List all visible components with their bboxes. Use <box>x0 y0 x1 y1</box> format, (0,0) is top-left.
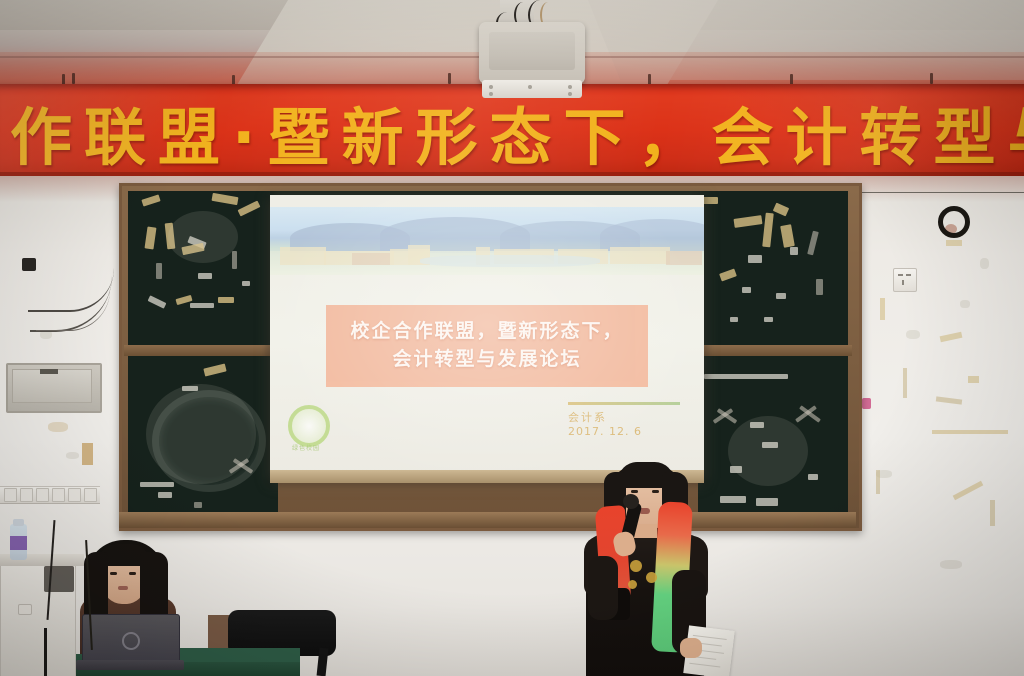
tape-residue <box>876 470 880 494</box>
socket-slot <box>902 280 904 285</box>
cabinet-handle[interactable] <box>18 604 32 615</box>
slide-title-box: 校企合作联盟，暨新形态下， 会计转型与发展论坛 <box>326 305 648 387</box>
wall-stain <box>940 560 962 569</box>
speaker-eye-left <box>631 490 638 493</box>
chalk-mark <box>807 231 819 256</box>
chalk-mark <box>734 215 763 228</box>
jacket-embroidery <box>630 560 642 572</box>
chalk-mark <box>158 492 172 498</box>
projection-screen: 校企合作联盟，暨新形态下， 会计转型与发展论坛 绿色校园 会计系 2017. 1… <box>270 195 704 483</box>
banner-sheen <box>0 84 1024 180</box>
jacket-embroidery <box>646 572 657 583</box>
chalk-mark <box>203 363 226 376</box>
chalk-mark <box>762 213 774 248</box>
bottle-cap <box>13 519 24 526</box>
chalkboard-panel-bottom-right <box>698 356 848 516</box>
chalk-mark <box>720 496 746 503</box>
chalk-mark <box>773 203 789 217</box>
chalkboard-ledge <box>119 512 856 528</box>
projector-screw <box>568 85 572 89</box>
chalk-mark <box>140 482 174 487</box>
slide-date: 2017. 12. 6 <box>568 425 642 438</box>
bottle-label <box>10 536 27 550</box>
wall-stain <box>980 258 989 269</box>
operator-eye-right <box>129 572 136 575</box>
projector-screw <box>568 92 572 96</box>
chalk-mark <box>790 247 798 255</box>
tape-residue <box>990 500 995 526</box>
wall-socket-plate <box>893 268 917 292</box>
green-desk-extension <box>176 648 300 662</box>
jacket-embroidery <box>628 580 637 589</box>
wall-switch[interactable] <box>84 488 97 502</box>
chalk-mark <box>242 281 250 286</box>
projector-base-plate <box>482 80 582 98</box>
electrical-panel-face <box>12 369 92 403</box>
chalk-mark <box>704 374 788 379</box>
wall-switch[interactable] <box>36 488 49 502</box>
wall-switch[interactable] <box>52 488 65 502</box>
tape-residue <box>968 376 979 383</box>
wall-stain <box>66 452 79 459</box>
socket-slot <box>906 274 911 276</box>
chalkboard-divider-left <box>124 345 282 356</box>
chalk-mark <box>816 279 823 295</box>
tape-residue <box>946 240 962 246</box>
speaker-arm-left <box>588 556 618 620</box>
paper-text-line <box>689 663 720 668</box>
chalk-mark <box>730 317 738 322</box>
chalk-mark <box>756 498 778 506</box>
speaker-hand-right <box>680 638 702 658</box>
electrical-panel-latch <box>40 369 58 374</box>
chalkboard-panel-bottom-left <box>128 356 278 516</box>
chalk-mark <box>212 193 239 205</box>
chalk-mark <box>719 269 737 282</box>
chalk-mark <box>808 474 818 480</box>
chalk-mark <box>764 317 773 322</box>
chalk-mark <box>190 303 214 308</box>
slide-title-line-2: 会计转型与发展论坛 <box>392 346 581 374</box>
wall-stain <box>48 422 68 432</box>
slide-title-line-1: 校企合作联盟，暨新形态下， <box>350 318 623 346</box>
wall-switch[interactable] <box>20 488 33 502</box>
socket-slot <box>898 274 903 276</box>
wall-switch[interactable] <box>4 488 17 502</box>
chalk-mark <box>148 295 167 308</box>
slide-divider-rule <box>568 402 680 405</box>
microphone-stand <box>44 628 47 676</box>
speaker-eye-right <box>652 490 659 493</box>
slide-logo-label: 绿色校园 <box>283 443 329 452</box>
campus-building <box>352 253 390 265</box>
chalk-mark <box>145 226 157 249</box>
photo-water <box>420 255 600 267</box>
wall-stain <box>906 330 920 339</box>
chalk-smear <box>728 416 808 486</box>
campus-building <box>666 251 702 265</box>
campus-building <box>610 247 670 264</box>
wall-sticker <box>82 443 93 465</box>
chalkboard-panel-top-left <box>128 191 278 345</box>
chalk-mark <box>218 297 234 303</box>
tape-residue <box>880 298 885 320</box>
operator-eye-left <box>110 572 117 575</box>
laptop-base[interactable] <box>76 660 184 670</box>
operator-mouth <box>118 586 128 590</box>
chalkboard-divider-right <box>694 345 852 356</box>
chalk-mark <box>748 255 762 263</box>
dell-logo-icon <box>122 632 140 650</box>
tape-residue <box>903 368 907 398</box>
pink-marker-spot <box>862 398 871 409</box>
projector-screw <box>528 85 532 89</box>
chalk-smear <box>146 384 256 484</box>
chalk-mark <box>194 502 202 508</box>
slide-department: 会计系 <box>568 409 607 425</box>
chalk-mark <box>238 201 261 217</box>
chalk-mark <box>141 194 160 206</box>
chalk-mark <box>742 287 751 293</box>
projector-screw <box>489 85 493 89</box>
projector-screw <box>489 92 493 96</box>
chalk-mark <box>232 251 237 269</box>
wall-stain <box>960 300 970 308</box>
tape-residue <box>932 430 1008 434</box>
chalk-mark <box>776 293 786 299</box>
chalkboard-panel-top-right <box>698 191 848 345</box>
red-event-banner: 合作联盟·暨新形态下，会计转型与发展 <box>0 84 1024 180</box>
slide-header-photo <box>270 207 704 275</box>
wall-switch[interactable] <box>68 488 81 502</box>
banner-clip-pin <box>448 73 451 84</box>
banner-clip-pin <box>930 73 933 84</box>
chalk-mark <box>780 224 795 248</box>
lecture-hall-photo: 合作联盟·暨新形态下，会计转型与发展 <box>0 0 1024 676</box>
chalk-mark <box>156 263 162 279</box>
projector-lens-panel <box>489 32 575 70</box>
slide-logo-icon <box>288 405 330 447</box>
campus-building <box>280 247 326 265</box>
banner-clip-pin <box>72 73 75 84</box>
wall-cable-right <box>856 192 1024 233</box>
chalk-mark <box>198 273 212 279</box>
chalk-smear <box>168 211 238 263</box>
